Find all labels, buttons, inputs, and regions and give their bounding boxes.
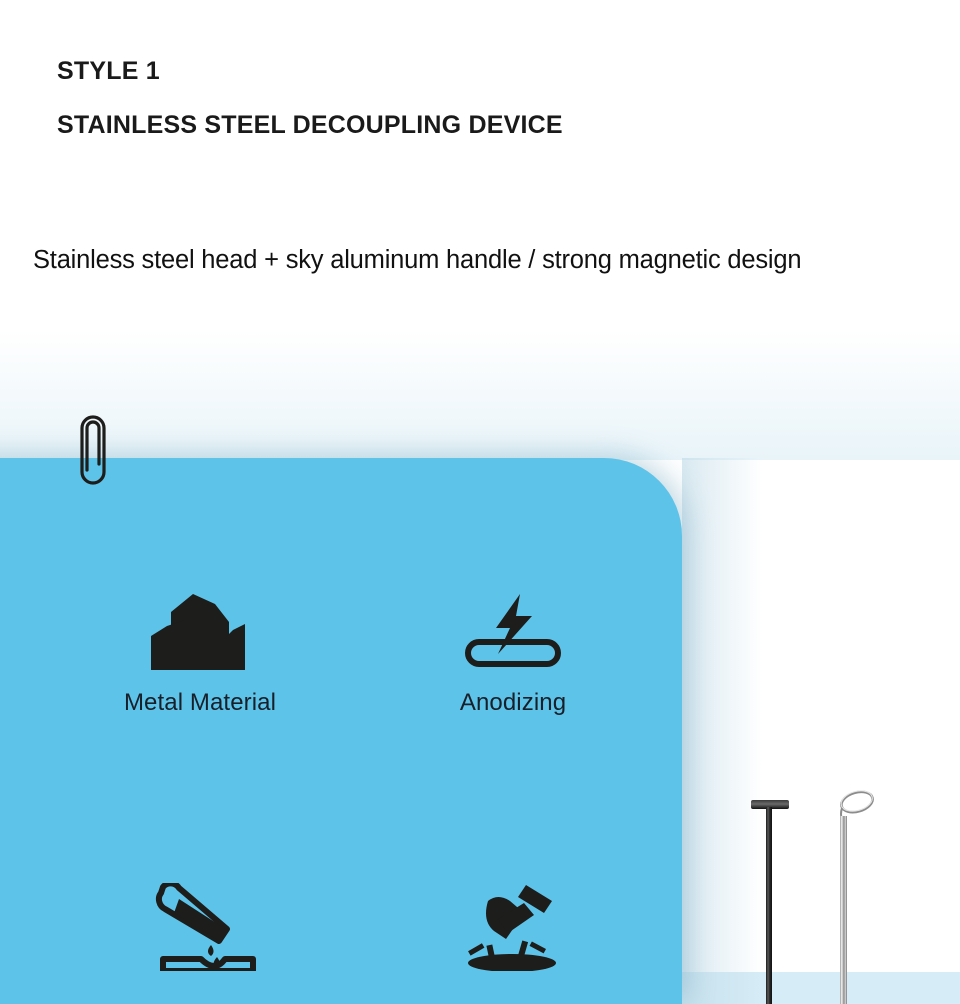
t-handle-rod-tool: [742, 796, 798, 1004]
feature-panel: [0, 458, 682, 1004]
product-subtitle: Stainless steel head + sky aluminum hand…: [33, 243, 959, 277]
product-detail-page: STYLE 1 STAINLESS STEEL DECOUPLING DEVIC…: [0, 0, 960, 1004]
panel-top-glow: [0, 330, 960, 460]
page-title: STAINLESS STEEL DECOUPLING DEVICE: [57, 108, 917, 142]
heading-block: STYLE 1 STAINLESS STEEL DECOUPLING DEVIC…: [57, 54, 917, 142]
style-label: STYLE 1: [57, 54, 917, 88]
paperclip-icon: [76, 414, 110, 492]
looped-handle-rod-tool: [826, 788, 880, 1004]
